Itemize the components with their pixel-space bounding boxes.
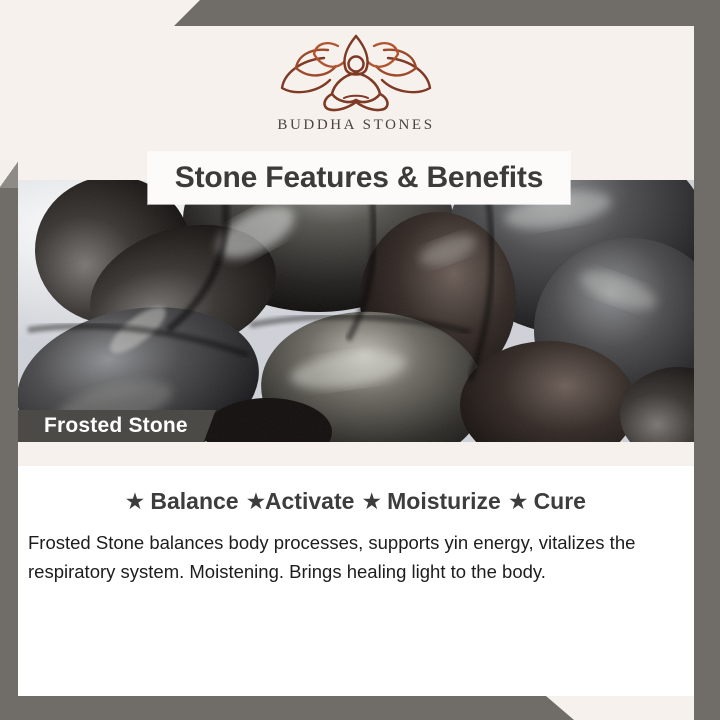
- star-icon: ★: [126, 491, 144, 513]
- page-title: Stone Features & Benefits: [175, 161, 543, 195]
- stone-description: Frosted Stone balances body processes, s…: [28, 528, 688, 586]
- benefits-list: ★ Balance ★Activate ★ Moisturize ★ Cure: [18, 488, 694, 515]
- star-icon: ★: [509, 491, 527, 513]
- benefit-label-1: Activate: [265, 488, 354, 514]
- benefit-item-1: ★Activate: [247, 488, 354, 514]
- title-banner: Stone Features & Benefits: [148, 152, 570, 204]
- benefit-label-3: Cure: [534, 488, 586, 514]
- lotus-meditation-icon: [266, 30, 446, 116]
- benefit-label-0: Balance: [150, 488, 238, 514]
- frame-left-bevel: [0, 160, 20, 188]
- brand-logo: BUDDHA STONES: [18, 30, 694, 134]
- benefit-item-2: ★ Moisturize: [363, 488, 501, 514]
- benefit-label-2: Moisturize: [387, 488, 501, 514]
- stone-benefits-card: BUDDHA STONES Stone Features & Benefits: [0, 0, 720, 720]
- stone-photo-art: [18, 180, 694, 442]
- stone-name-label: Frosted Stone: [18, 410, 216, 442]
- content-panel: ★ Balance ★Activate ★ Moisturize ★ Cure …: [18, 466, 694, 696]
- benefit-item-0: ★ Balance: [126, 488, 239, 514]
- frame-top-bar: [0, 0, 720, 26]
- frame-left-bar: [0, 160, 18, 720]
- star-icon: ★: [247, 491, 265, 513]
- benefit-item-3: ★ Cure: [509, 488, 586, 514]
- cream-divider-strip: [18, 442, 694, 466]
- card-inner: BUDDHA STONES Stone Features & Benefits: [18, 26, 694, 696]
- star-icon: ★: [363, 491, 381, 513]
- frosted-stone-photo: Frosted Stone: [18, 180, 694, 442]
- frame-right-bar: [694, 0, 720, 720]
- brand-name: BUDDHA STONES: [18, 117, 694, 134]
- frame-bottom-bar: [0, 696, 720, 720]
